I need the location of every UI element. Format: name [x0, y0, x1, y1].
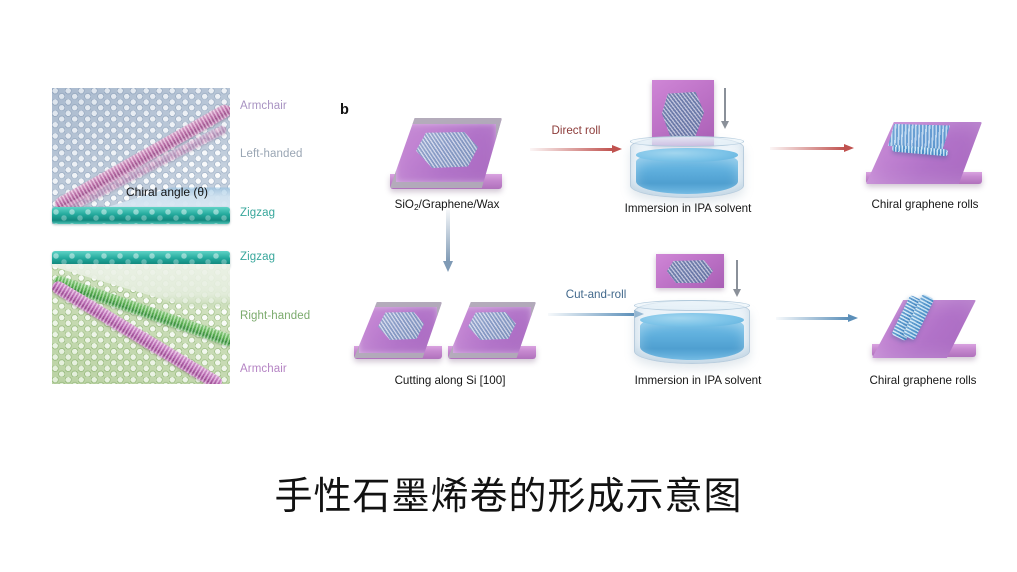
arrow-shaft	[770, 147, 845, 150]
label-armchair-top: Armchair	[240, 100, 287, 112]
beaker-rim	[630, 136, 744, 147]
arrow-head	[443, 261, 453, 272]
stage-immersion-bottom: Immersion in IPA solvent	[618, 254, 778, 399]
beaker-liquid-surface	[636, 148, 739, 162]
label-armchair-bottom: Armchair	[240, 363, 287, 375]
vertical-branch-arrow	[443, 210, 453, 272]
ipa-beaker	[634, 300, 750, 364]
figure-caption: 手性石墨烯卷的形成示意图	[0, 465, 1017, 520]
panel-b: b SiO2/Graphene/Wax Direct roll	[340, 92, 1010, 402]
substrate-plate-above-solvent	[656, 254, 724, 288]
stage-caption-immersion-bottom: Immersion in IPA solvent	[635, 374, 762, 387]
stage-caption-chiral-rolls-top: Chiral graphene rolls	[872, 198, 979, 211]
stage-chiral-rolls-bottom: Chiral graphene rolls	[838, 288, 1008, 396]
chiral-angle-label: Chiral angle (θ)	[126, 185, 208, 199]
beaker-liquid-surface	[640, 313, 744, 327]
caption-text-pre: SiO	[395, 198, 414, 211]
left-handed-lattice-diagram: Chiral angle (θ)	[52, 88, 230, 224]
caption-subscript: 2	[414, 202, 419, 212]
figure-root: a Chiral angle (θ) Armchair Left-handed …	[0, 0, 1017, 572]
label-right-handed: Right-handed	[240, 310, 310, 322]
substrate-slab	[872, 300, 976, 358]
right-handed-lattice-diagram	[52, 264, 230, 384]
stage-immersion-top: Immersion in IPA solvent	[608, 80, 768, 220]
stage-caption-cutting: Cutting along Si [100]	[395, 374, 506, 387]
insert-direction-arrow	[724, 88, 726, 122]
substrate-slab-left-half	[354, 302, 442, 358]
substrate-slab-right-half	[448, 302, 536, 358]
label-zigzag-bottom: Zigzag	[240, 251, 275, 263]
substrate-slab	[390, 118, 502, 188]
ipa-beaker	[630, 136, 744, 198]
stage-sio2-graphene-wax: SiO2/Graphene/Wax	[362, 110, 532, 215]
graphene-flake	[667, 260, 713, 283]
beaker-rim	[634, 300, 750, 311]
stage-caption-chiral-rolls-bottom: Chiral graphene rolls	[870, 374, 977, 387]
insert-direction-arrow	[736, 260, 738, 290]
stage-cutting-si100: Cutting along Si [100]	[350, 288, 550, 396]
panel-a: a Chiral angle (θ) Armchair Left-handed …	[52, 88, 332, 390]
stage-caption-immersion-top: Immersion in IPA solvent	[625, 202, 752, 215]
panel-b-letter: b	[340, 102, 349, 118]
caption-text-post: /Graphene/Wax	[419, 198, 500, 211]
stage-chiral-rolls-top: Chiral graphene rolls	[840, 110, 1010, 215]
arrow-shaft	[446, 210, 450, 262]
direct-roll-label: Direct roll	[552, 124, 601, 137]
substrate-slab	[866, 122, 982, 184]
zigzag-edge-bar-top	[52, 207, 230, 224]
arrow-shaft	[530, 148, 613, 151]
graphene-flake	[662, 92, 704, 137]
label-left-handed: Left-handed	[240, 148, 303, 160]
label-zigzag-top: Zigzag	[240, 207, 275, 219]
